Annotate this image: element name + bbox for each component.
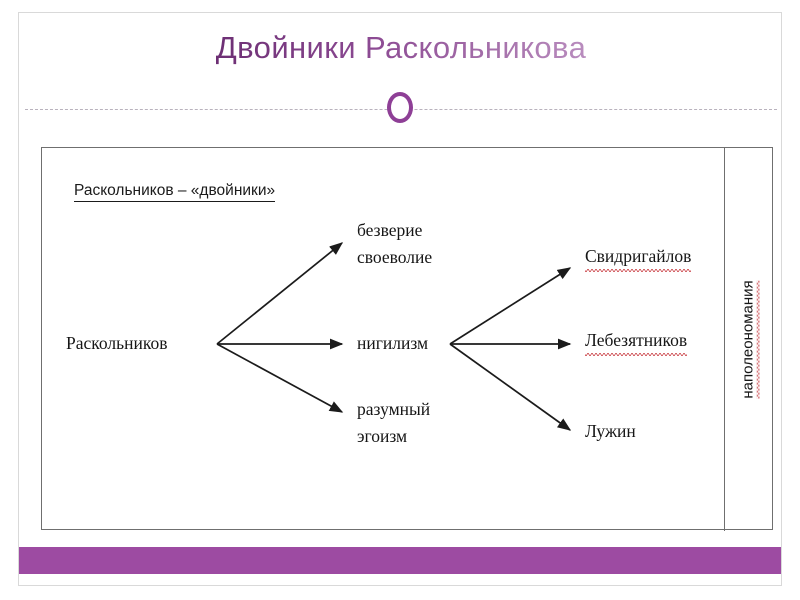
title-block: Двойники Раскольникова (19, 31, 783, 65)
node-label: Лужин (585, 421, 636, 441)
presentation-slide: Двойники Раскольникова Раскольников – «д… (18, 12, 782, 586)
node-raskolnikov: Раскольников (66, 331, 167, 356)
node-lebezyatnikov: Лебезятников (585, 328, 687, 353)
diagram-container: Раскольников – «двойники» Раскольников б… (41, 147, 773, 530)
node-nigilizm: нигилизм (357, 331, 428, 356)
node-svidrigailov: Свидригайлов (585, 244, 691, 269)
node-label-line2: своеволие (357, 244, 432, 271)
node-label: Лебезятников (585, 328, 687, 353)
bottom-accent-bar (19, 547, 781, 574)
node-napoleonomania: наполеономания (724, 148, 773, 531)
node-label-line1: разумный (357, 396, 430, 423)
node-bezverie-svoevolie: безверие своеволие (357, 217, 432, 271)
node-luzhin: Лужин (585, 419, 636, 444)
node-label: Свидригайлов (585, 244, 691, 269)
node-label: Раскольников (66, 333, 167, 353)
node-label-line2: эгоизм (357, 423, 430, 450)
node-label-line1: безверие (357, 217, 432, 244)
node-razumnyi-egoizm: разумный эгоизм (357, 396, 430, 450)
node-label: наполеономания (740, 280, 757, 398)
node-label: нигилизм (357, 333, 428, 353)
page-title: Двойники Раскольникова (216, 31, 586, 65)
diagram-heading: Раскольников – «двойники» (74, 182, 275, 202)
circle-ring-icon (387, 92, 413, 123)
